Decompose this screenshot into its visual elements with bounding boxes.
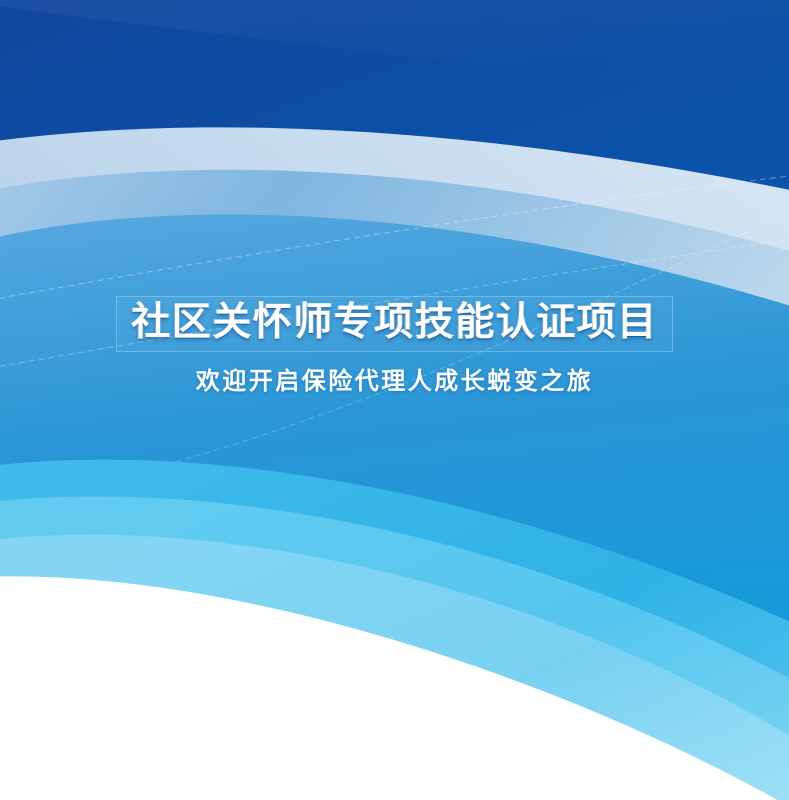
background-artwork [0,0,789,800]
poster-canvas: 社区关怀师专项技能认证项目 欢迎开启保险代理人成长蜕变之旅 [0,0,789,800]
